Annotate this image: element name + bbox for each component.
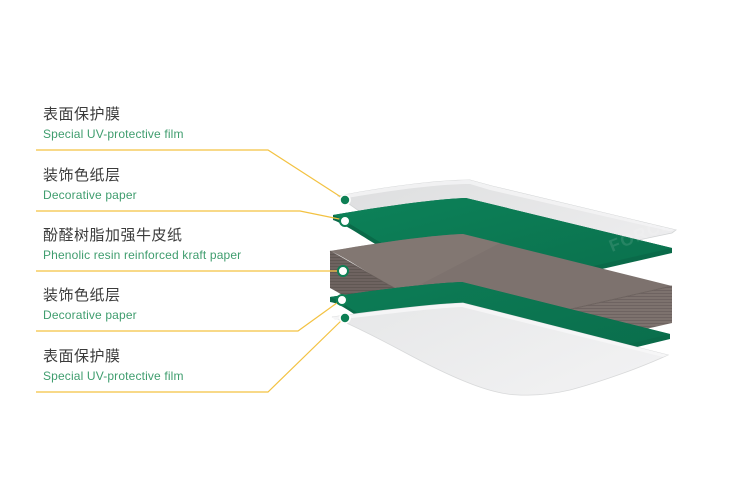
dot-marker-surface-film-top (340, 195, 350, 205)
label-decorative-paper-bottom-cn: 装饰色纸层 (43, 285, 137, 305)
label-kraft-core-cn: 酚醛树脂加强牛皮纸 (43, 225, 241, 245)
label-surface-film-bottom-cn: 表面保护膜 (43, 346, 184, 366)
label-decorative-paper-bottom: 装饰色纸层 Decorative paper (43, 285, 137, 324)
diagram-canvas: FORCA (0, 0, 740, 493)
dot-marker-surface-film-bottom (340, 313, 350, 323)
label-decorative-paper-bottom-en: Decorative paper (43, 307, 137, 324)
label-kraft-core: 酚醛树脂加强牛皮纸 Phenolic resin reinforced kraf… (43, 225, 241, 264)
label-surface-film-bottom: 表面保护膜 Special UV-protective film (43, 346, 184, 385)
label-kraft-core-en: Phenolic resin reinforced kraft paper (43, 247, 241, 264)
label-surface-film-bottom-en: Special UV-protective film (43, 368, 184, 385)
label-decorative-paper-top-en: Decorative paper (43, 187, 137, 204)
label-surface-film-top-en: Special UV-protective film (43, 126, 184, 143)
label-decorative-paper-top-cn: 装饰色纸层 (43, 165, 137, 185)
dot-marker-kraft-core (338, 266, 348, 276)
label-decorative-paper-top: 装饰色纸层 Decorative paper (43, 165, 137, 204)
dot-marker-decorative-paper-bottom (337, 295, 347, 305)
dot-marker-decorative-paper-top (340, 216, 350, 226)
label-surface-film-top-cn: 表面保护膜 (43, 104, 184, 124)
label-surface-film-top: 表面保护膜 Special UV-protective film (43, 104, 184, 143)
leader-line-2 (36, 211, 344, 220)
